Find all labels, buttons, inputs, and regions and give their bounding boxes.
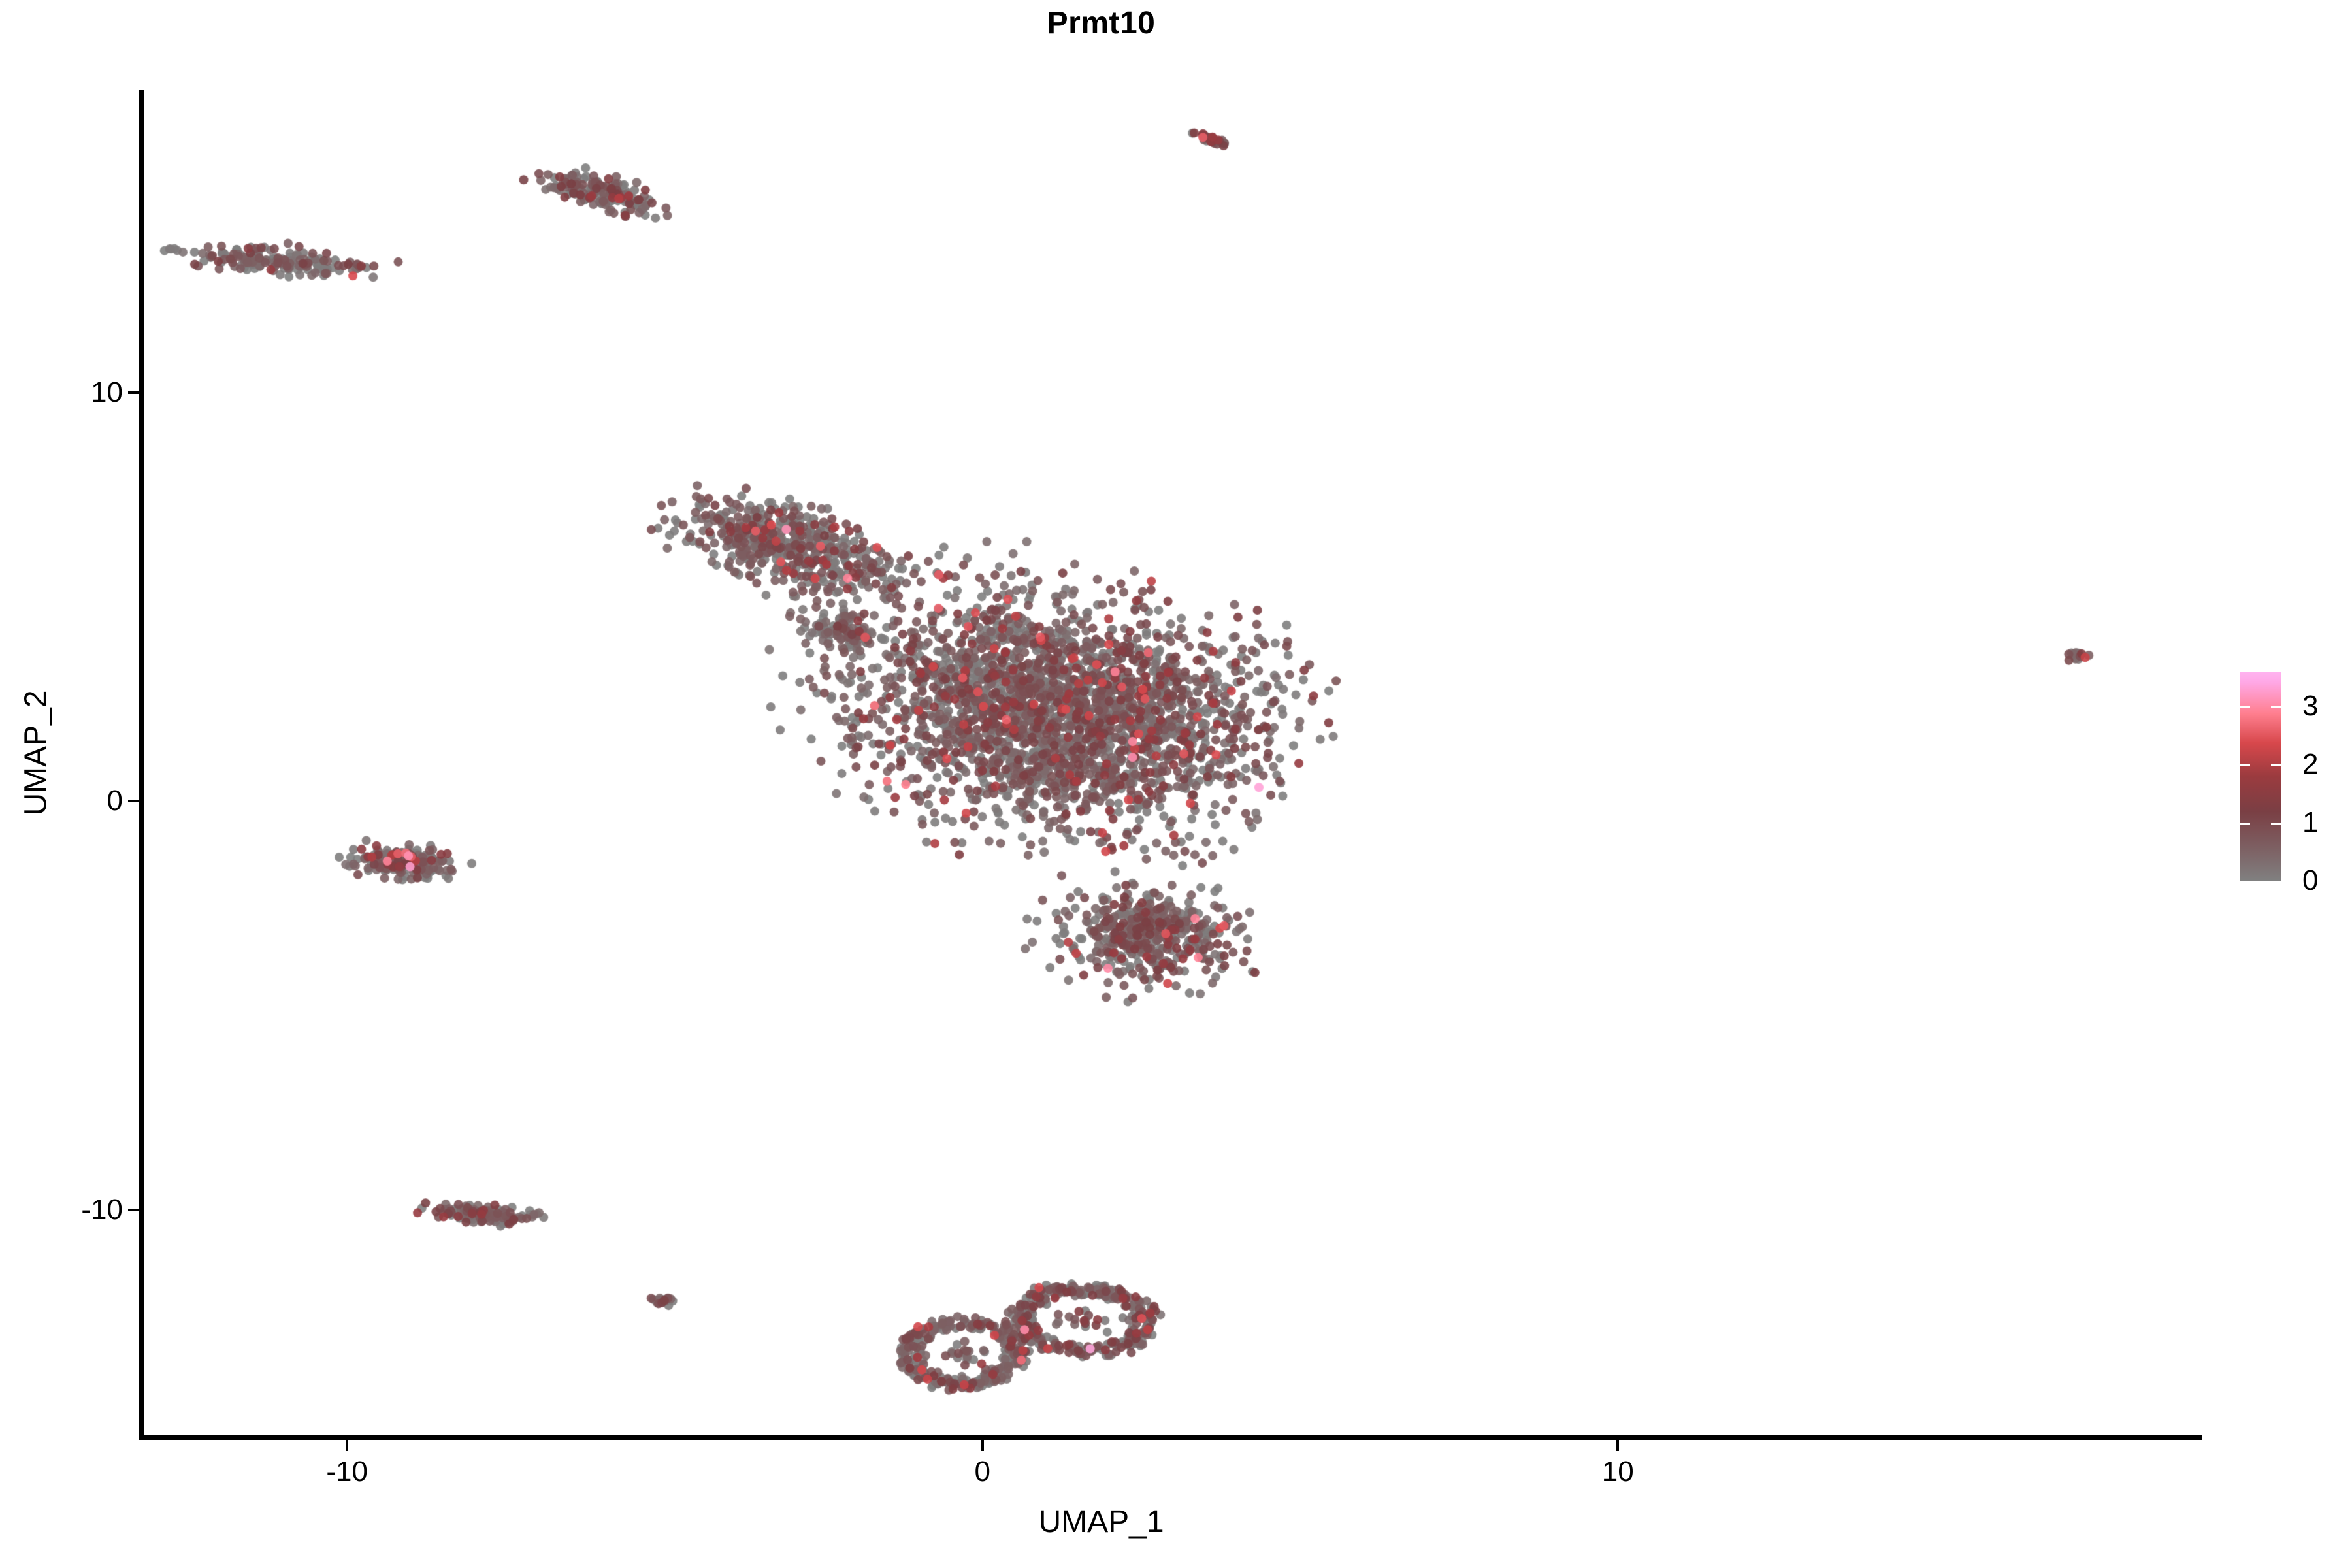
x-ticklabel-10: 10 — [1602, 1456, 1634, 1488]
color-legend: 3210 — [2240, 672, 2344, 881]
legend-label-2: 2 — [2302, 748, 2318, 781]
legend-label-1: 1 — [2302, 806, 2318, 839]
legend-tick-1-left — [2240, 823, 2250, 825]
y-axis-title: UMAP_2 — [18, 427, 54, 1080]
x-tick--10 — [346, 1440, 348, 1451]
legend-tick-2-right — [2271, 764, 2281, 766]
legend-tick-0-right — [2271, 881, 2281, 883]
legend-colorbar — [2240, 672, 2281, 881]
y-tick-0 — [128, 800, 139, 802]
y-axis-line — [139, 90, 144, 1439]
x-ticklabel-0: 0 — [974, 1456, 990, 1488]
legend-label-3: 3 — [2302, 690, 2318, 723]
scatter-plot-canvas — [144, 90, 2202, 1439]
legend-label-0: 0 — [2302, 864, 2318, 897]
legend-tick-0-left — [2240, 881, 2250, 883]
y-tick-10 — [128, 391, 139, 394]
x-axis-title: UMAP_1 — [0, 1504, 2202, 1540]
umap-feature-plot: Prmt10 100-10 -10010 UMAP_1 UMAP_2 3210 — [0, 0, 2352, 1568]
x-tick-10 — [1616, 1440, 1619, 1451]
y-tick--10 — [128, 1209, 139, 1211]
legend-tick-3-left — [2240, 706, 2250, 708]
y-ticklabel-0: 0 — [107, 785, 123, 817]
page-title: Prmt10 — [0, 4, 2202, 43]
x-ticklabel--10: -10 — [326, 1456, 368, 1488]
y-ticklabel--10: -10 — [81, 1194, 123, 1226]
legend-tick-1-right — [2271, 823, 2281, 825]
legend-tick-3-right — [2271, 706, 2281, 708]
legend-tick-2-left — [2240, 764, 2250, 766]
x-tick-0 — [981, 1440, 984, 1451]
y-ticklabel-10: 10 — [91, 376, 123, 409]
x-axis-line — [139, 1435, 2202, 1440]
plot-panel — [144, 90, 2202, 1439]
